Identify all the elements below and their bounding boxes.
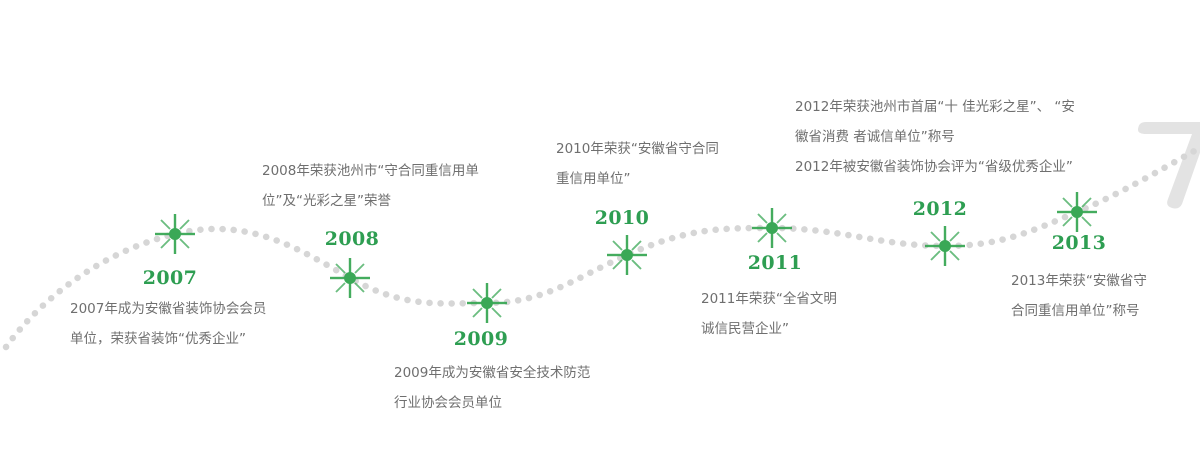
- description-line: 2007年成为安徽省装饰协会会员: [70, 294, 266, 324]
- year-label-2011: 2011: [748, 252, 802, 274]
- milestone-node-2008[interactable]: [328, 256, 372, 300]
- year-label-2007: 2007: [143, 267, 197, 289]
- description-line: 单位，荣获省装饰“优秀企业”: [70, 324, 266, 354]
- description-line: 2008年荣获池州市“守合同重信用单: [262, 156, 479, 186]
- milestone-node-2012[interactable]: [923, 224, 967, 268]
- milestone-description-2013: 2013年荣获“安徽省守 合同重信用单位”称号: [1011, 266, 1147, 326]
- description-line: 重信用单位”: [556, 164, 719, 194]
- milestone-description-2012: 2012年荣获池州市首届“十 佳光彩之星”、 “安 徽省消费 者诚信单位”称号 …: [795, 92, 1075, 182]
- milestone-node-2009[interactable]: [465, 281, 509, 325]
- milestone-description-2007: 2007年成为安徽省装饰协会会员 单位，荣获省装饰“优秀企业”: [70, 294, 266, 354]
- description-line: 2012年荣获池州市首届“十 佳光彩之星”、 “安: [795, 92, 1075, 122]
- year-label-2013: 2013: [1052, 232, 1106, 254]
- description-line: 2010年荣获“安徽省守合同: [556, 134, 719, 164]
- year-label-2008: 2008: [325, 228, 379, 250]
- description-line: 位”及“光彩之星”荣誉: [262, 186, 479, 216]
- year-label-2012: 2012: [913, 198, 967, 220]
- year-label-2010: 2010: [595, 207, 649, 229]
- milestone-node-2013[interactable]: [1055, 190, 1099, 234]
- description-line: 2009年成为安徽省安全技术防范: [394, 358, 590, 388]
- milestone-node-2011[interactable]: [750, 206, 794, 250]
- milestone-node-2007[interactable]: [153, 212, 197, 256]
- description-line: 合同重信用单位”称号: [1011, 296, 1147, 326]
- description-line: 2013年荣获“安徽省守: [1011, 266, 1147, 296]
- milestone-description-2010: 2010年荣获“安徽省守合同 重信用单位”: [556, 134, 719, 194]
- milestone-node-2010[interactable]: [605, 233, 649, 277]
- milestone-description-2008: 2008年荣获池州市“守合同重信用单 位”及“光彩之星”荣誉: [262, 156, 479, 216]
- milestone-description-2011: 2011年荣获“全省文明 诚信民营企业”: [701, 284, 837, 344]
- description-line: 徽省消费 者诚信单位”称号: [795, 122, 1075, 152]
- year-label-2009: 2009: [454, 328, 508, 350]
- description-line: 诚信民营企业”: [701, 314, 837, 344]
- description-line: 行业协会会员单位: [394, 388, 590, 418]
- seven-shape-watermark: [1136, 118, 1200, 210]
- milestone-description-2009: 2009年成为安徽省安全技术防范 行业协会会员单位: [394, 358, 590, 418]
- description-line: 2012年被安徽省装饰协会评为“省级优秀企业”: [795, 152, 1075, 182]
- timeline-infographic: 2007 2008 2009 2010 2011 2012 2013 2007年…: [0, 0, 1200, 465]
- description-line: 2011年荣获“全省文明: [701, 284, 837, 314]
